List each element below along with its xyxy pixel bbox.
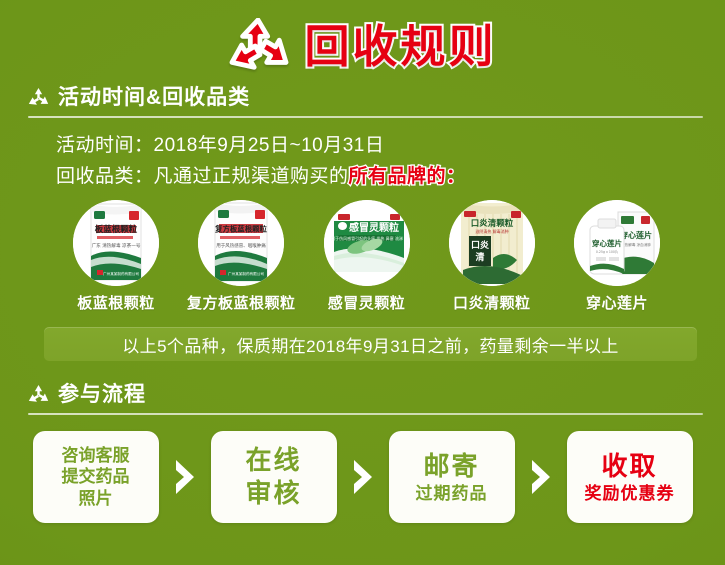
poster-root: 回收规则 活动时间&回收品类 活动时间：2018年9月25日~10月31日 回收… [0, 0, 725, 565]
flow-step-2[interactable]: 在线 审核 [211, 431, 337, 523]
note-text: 以上5个品种，保质期在2018年9月31日之前，药量剩余一半以上 [122, 332, 618, 357]
flow-step-line: 在线 [245, 444, 301, 477]
poster-header: 回收规则 [0, 0, 725, 86]
recycle-icon [28, 88, 49, 107]
recycle-category-value: 凡通过正规渠道购买的 [154, 166, 349, 187]
recycle-category-label: 回收品类： [56, 166, 154, 187]
product-item: 感冒灵颗粒 用于伤风感冒引起的头痛 发热 鼻塞 流涕 感冒灵颗粒 [307, 200, 427, 313]
note-bar: 以上5个品种，保质期在2018年9月31日之前，药量剩余一半以上 [44, 327, 697, 361]
svg-text:口炎: 口炎 [471, 240, 489, 251]
svg-text:感冒灵颗粒: 感冒灵颗粒 [349, 221, 399, 234]
product-image-fufang-banlangen: 复方板蓝根颗粒 用于风热感冒、咽喉肿痛 广州某某制药有限公司 [198, 200, 284, 286]
svg-text:广东 清热解毒 凉茶一号: 广东 清热解毒 凉茶一号 [92, 242, 141, 249]
svg-text:广州某某制药有限公司: 广州某某制药有限公司 [228, 271, 264, 276]
chevron-right-icon [515, 458, 567, 496]
flow-step-line: 咨询客服 [62, 445, 130, 466]
product-label: 口炎清颗粒 [453, 292, 531, 313]
section-title: 活动时间&回收品类 [58, 86, 250, 109]
chevron-right-icon [337, 458, 389, 496]
section-divider [28, 413, 703, 415]
svg-text:滋阴清热 解毒消肿: 滋阴清热 解毒消肿 [475, 228, 508, 234]
svg-text:穿心莲片: 穿心莲片 [620, 230, 652, 240]
product-image-kouyanqing: 口炎清颗粒 滋阴清热 解毒消肿 口炎 清 [449, 200, 535, 286]
section-divider [28, 116, 703, 118]
flow-step-4[interactable]: 收取 奖励优惠券 [567, 431, 693, 523]
activity-time-value: 2018年9月25日~10月31日 [154, 135, 385, 156]
flow-step-1[interactable]: 咨询客服 提交药品 照片 [33, 431, 159, 523]
svg-text:清: 清 [475, 251, 484, 263]
product-label: 感冒灵颗粒 [328, 292, 406, 313]
product-image-chuanxinlian: 穿心莲片 清热解毒 凉血消肿 穿心莲片 0.25g x 100片 [574, 200, 660, 286]
svg-text:用于风热感冒、咽喉肿痛: 用于风热感冒、咽喉肿痛 [217, 242, 267, 249]
recycle-category-highlight: 所有品牌的： [349, 165, 466, 187]
chevron-right-icon [159, 458, 211, 496]
product-label: 穿心莲片 [586, 292, 648, 313]
flow-step-line: 过期药品 [416, 483, 488, 504]
page-title: 回收规则 [304, 24, 496, 69]
flow-step-line: 收取 [601, 450, 657, 483]
section-title: 参与流程 [58, 383, 146, 406]
product-image-banlangen: 板蓝根颗粒 广东 清热解毒 凉茶一号 广州某某制药有限公司 [73, 200, 159, 286]
svg-text:穿心莲片: 穿心莲片 [592, 238, 622, 248]
recycle-category-line: 回收品类：凡通过正规渠道购买的所有品牌的： [56, 161, 725, 192]
activity-time-label: 活动时间： [56, 135, 154, 156]
info-block: 活动时间：2018年9月25日~10月31日 回收品类：凡通过正规渠道购买的所有… [56, 131, 725, 192]
flow-step-line: 照片 [79, 488, 113, 509]
flow-step-3[interactable]: 邮寄 过期药品 [389, 431, 515, 523]
svg-text:清热解毒 凉血消肿: 清热解毒 凉血消肿 [621, 242, 651, 247]
product-item: 穿心莲片 清热解毒 凉血消肿 穿心莲片 0.25g x 100片 穿心莲片 [557, 200, 677, 313]
flow-step-line: 奖励优惠券 [585, 483, 675, 504]
product-list: 板蓝根颗粒 广东 清热解毒 凉茶一号 广州某某制药有限公司 板蓝根颗粒 [56, 200, 677, 313]
svg-text:复方板蓝根颗粒: 复方板蓝根颗粒 [214, 225, 267, 234]
recycle-icon [28, 385, 49, 404]
svg-text:广州某某制药有限公司: 广州某某制药有限公司 [103, 271, 139, 276]
flow-step-line: 邮寄 [423, 450, 479, 483]
activity-time-line: 活动时间：2018年9月25日~10月31日 [56, 131, 725, 161]
svg-text:用于伤风感冒引起的头痛 发热 鼻塞 流涕: 用于伤风感冒引起的头痛 发热 鼻塞 流涕 [331, 235, 403, 241]
product-label: 板蓝根颗粒 [77, 292, 155, 313]
flow-step-line: 提交药品 [62, 466, 130, 487]
section-header-schedule: 活动时间&回收品类 [0, 86, 725, 109]
product-item: 口炎清颗粒 滋阴清热 解毒消肿 口炎 清 口炎清颗粒 [432, 200, 552, 313]
product-label: 复方板蓝根颗粒 [187, 292, 296, 313]
svg-text:口炎清颗粒: 口炎清颗粒 [470, 218, 513, 229]
product-item: 复方板蓝根颗粒 用于风热感冒、咽喉肿痛 广州某某制药有限公司 复方板蓝根颗粒 [181, 200, 301, 313]
process-flow: 咨询客服 提交药品 照片 在线 审核 邮寄 过期药品 [0, 431, 725, 523]
svg-text:板蓝根颗粒: 板蓝根颗粒 [95, 224, 138, 235]
product-image-ganmaoling: 感冒灵颗粒 用于伤风感冒引起的头痛 发热 鼻塞 流涕 [324, 200, 410, 286]
flow-step-line: 审核 [245, 477, 301, 510]
recycle-icon [228, 18, 290, 74]
product-item: 板蓝根颗粒 广东 清热解毒 凉茶一号 广州某某制药有限公司 板蓝根颗粒 [56, 200, 176, 313]
svg-text:0.25g x 100片: 0.25g x 100片 [596, 249, 618, 254]
section-header-process: 参与流程 [0, 383, 725, 406]
